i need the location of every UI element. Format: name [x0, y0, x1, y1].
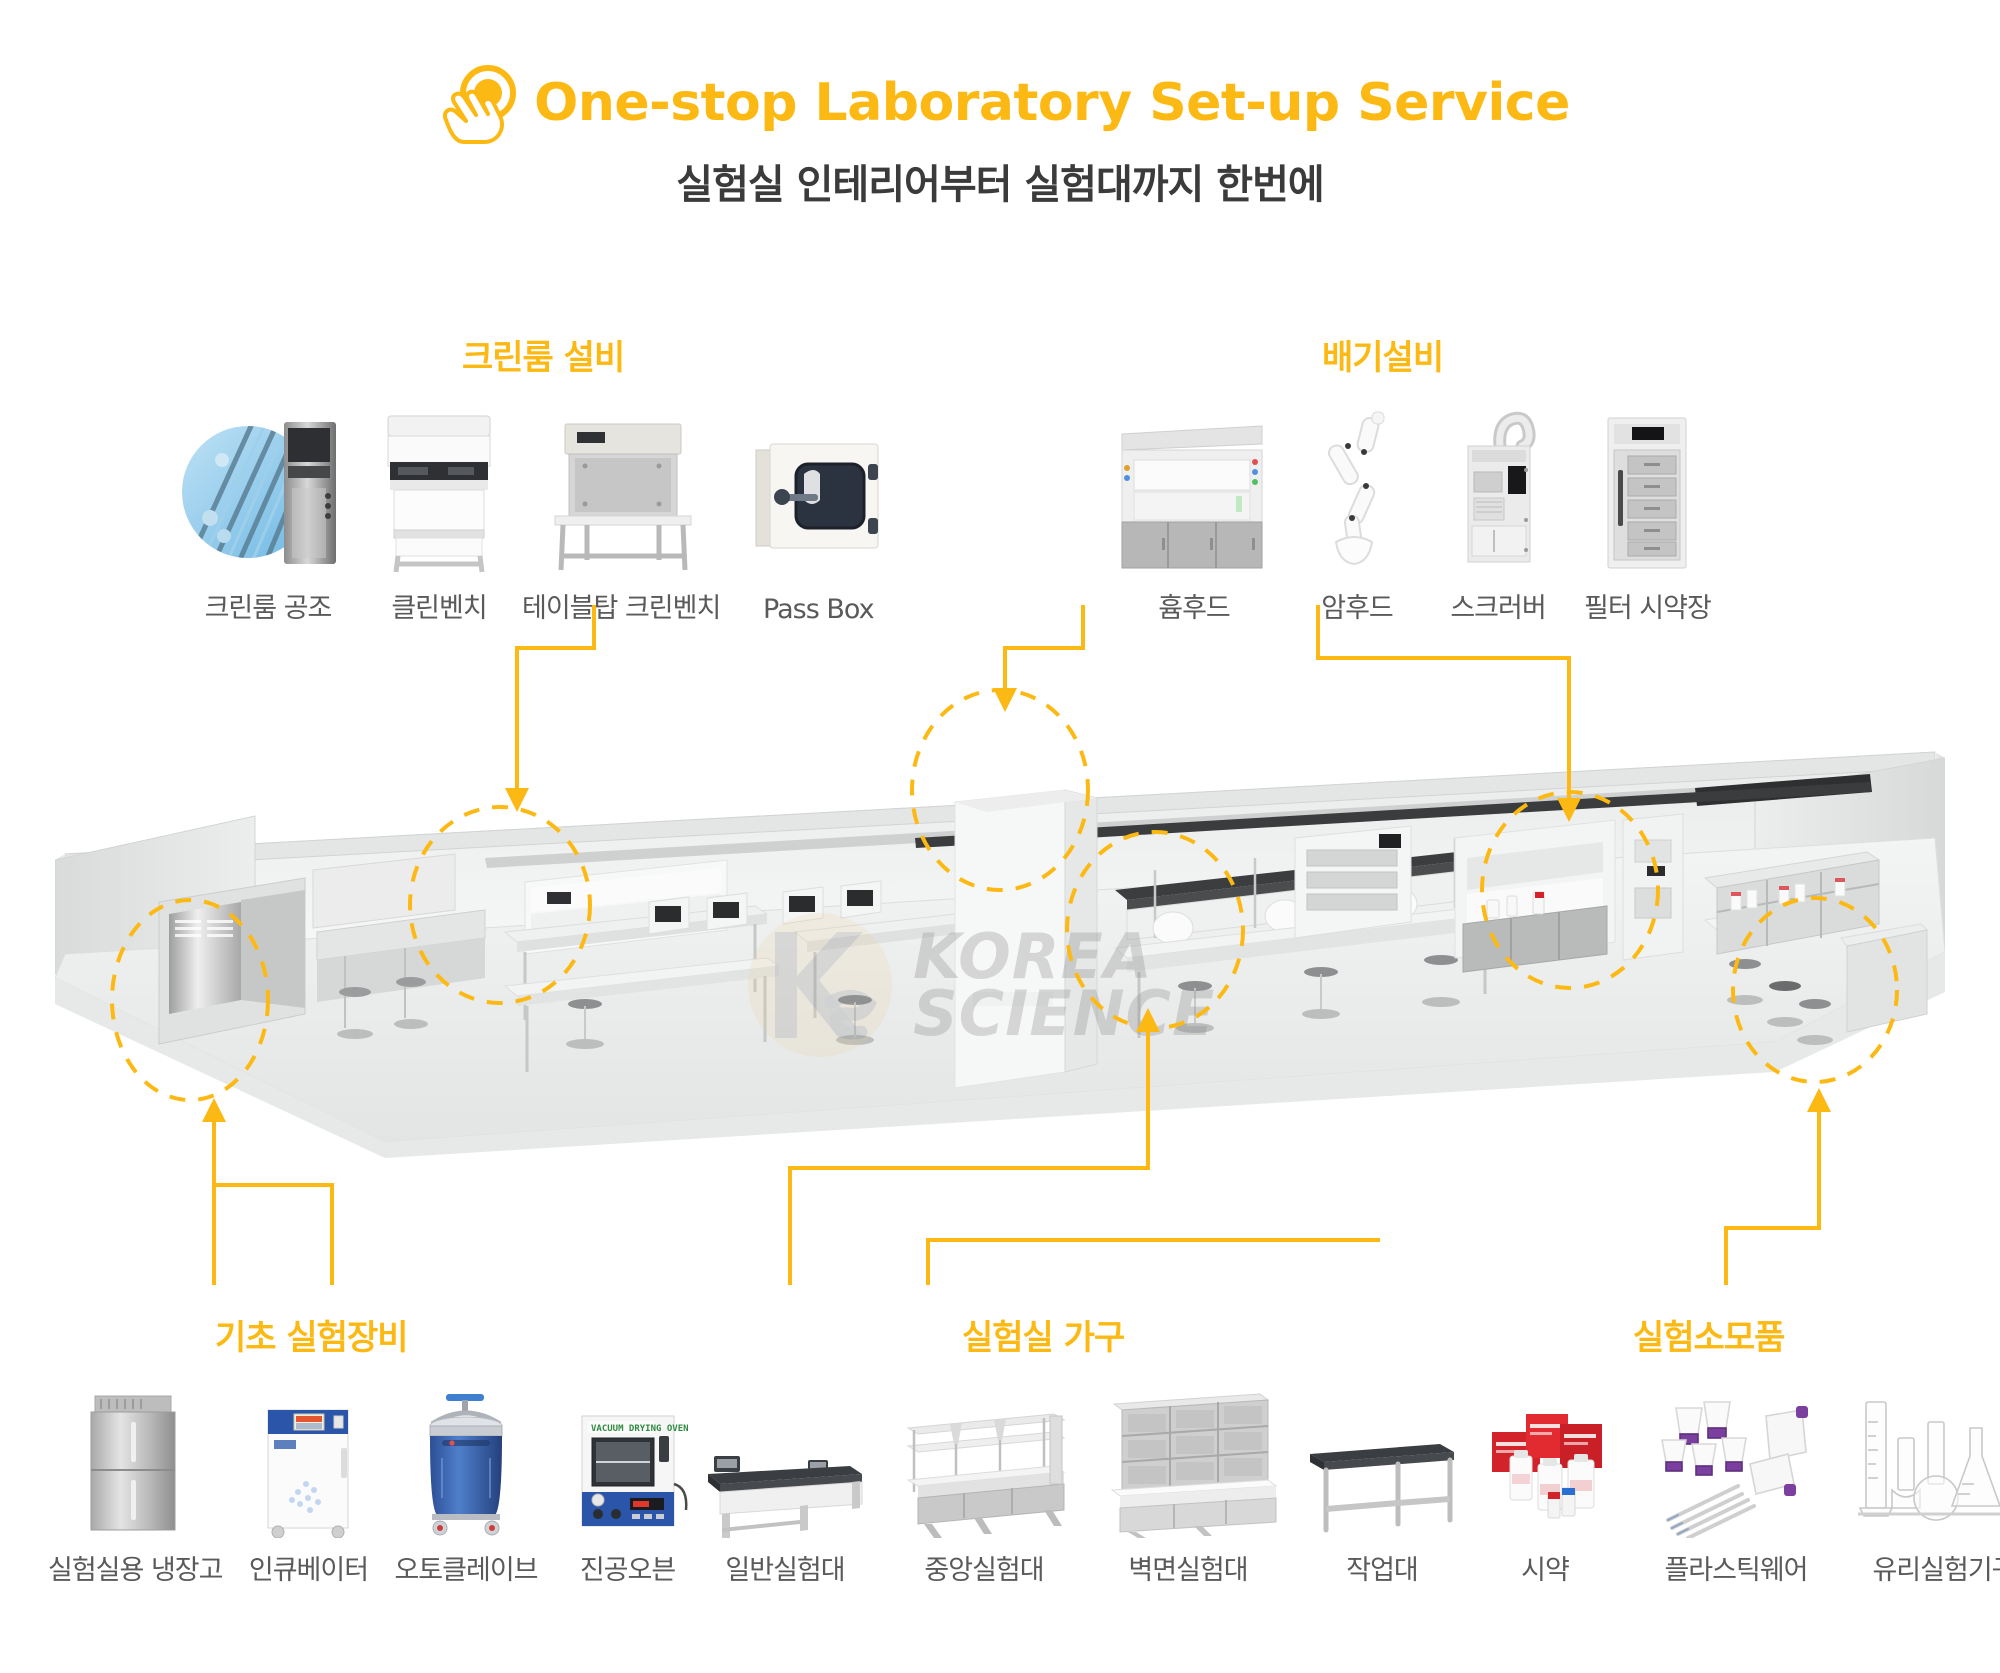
- item-label: 진공오븐: [580, 1548, 675, 1587]
- item-tabletop-clean-bench[interactable]: 테이블탑 크린벤치: [522, 400, 720, 625]
- item-standard-lab-bench[interactable]: 일반실험대: [700, 1388, 870, 1587]
- incubator-icon: [248, 1388, 368, 1538]
- item-label: 유리실험기구: [1872, 1548, 2000, 1587]
- arrowhead-pass-box: [993, 688, 1017, 712]
- ks-circle-logo: [745, 910, 895, 1060]
- item-label: 중앙실험대: [924, 1548, 1043, 1587]
- item-lab-refrigerator[interactable]: 실험실용 냉장고: [48, 1388, 222, 1587]
- thumb-wall-lab-bench: [1098, 1388, 1278, 1538]
- filtered-reagent-cabinet-icon: [1588, 400, 1706, 576]
- item-vacuum-oven[interactable]: VACUUM DRYING OVEN 진공오븐: [564, 1388, 692, 1587]
- work-table-icon: [1302, 1388, 1462, 1538]
- item-label: 인큐베이터: [249, 1548, 368, 1587]
- item-label: 시약: [1521, 1548, 1569, 1587]
- item-plasticware[interactable]: 플라스틱웨어: [1646, 1388, 1826, 1587]
- item-island-lab-bench[interactable]: 중앙실험대: [894, 1388, 1074, 1587]
- item-label: 실험실용 냉장고: [48, 1548, 222, 1587]
- thumb-autoclave: [402, 1388, 530, 1538]
- pass-box-icon: [738, 408, 898, 584]
- page-title: One-stop Laboratory Set-up Service: [534, 73, 1570, 133]
- item-pass-box[interactable]: Pass Box: [738, 408, 898, 625]
- item-wall-lab-bench[interactable]: 벽면실험대: [1098, 1388, 1278, 1587]
- page-subtitle: 실험실 인테리어부터 실험대까지 한번에: [666, 152, 1333, 212]
- thumb-filtered-reagent-cabinet: [1588, 400, 1706, 576]
- arm-hood-icon: [1302, 400, 1412, 576]
- standard-lab-bench-icon: [700, 1388, 870, 1538]
- fume-hood-icon: [1112, 400, 1276, 576]
- reagent-kits-icon: [1470, 1388, 1620, 1538]
- section-heading-cleanroom: 크린룸 설비: [462, 330, 624, 379]
- cleanroom-ahu-icon: [180, 400, 356, 576]
- item-label: 오토클레이브: [394, 1548, 537, 1587]
- poster-root: One-stop Laboratory Set-up Service 실험실 인…: [0, 0, 2000, 1673]
- glassware-icon: [1852, 1388, 2000, 1538]
- item-fume-hood[interactable]: 흄후드: [1112, 400, 1276, 625]
- connector-furniture-rail: [928, 1240, 1380, 1285]
- item-clean-bench[interactable]: 클린벤치: [374, 400, 504, 625]
- item-label: 암후드: [1321, 586, 1393, 625]
- connector-pass-box: [1005, 605, 1083, 700]
- section-heading-consumables: 실험소모품: [1633, 1310, 1784, 1359]
- item-group-furniture: 일반실험대: [700, 1388, 1462, 1587]
- page-subtitle-text: 실험실 인테리어부터 실험대까지 한번에: [676, 162, 1323, 208]
- autoclave-icon: [402, 1388, 530, 1538]
- item-scrubber[interactable]: 스크러버: [1438, 400, 1558, 625]
- thumb-clean-bench: [374, 400, 504, 576]
- connector-refrigerator-branch: [214, 1185, 332, 1285]
- item-work-table[interactable]: 작업대: [1302, 1388, 1462, 1587]
- thumb-lab-refrigerator: [71, 1388, 199, 1538]
- korea-science-watermark: KOREA SCIENCE: [745, 900, 1365, 1070]
- item-label: 일반실험대: [725, 1548, 844, 1587]
- section-heading-furniture: 실험실 가구: [962, 1310, 1124, 1359]
- item-label: 플라스틱웨어: [1664, 1548, 1807, 1587]
- scrubber-icon: [1438, 400, 1558, 576]
- subtitle-wrap: 실험실 인테리어부터 실험대까지 한번에: [0, 152, 2000, 212]
- thumb-tabletop-clean-bench: [541, 400, 701, 576]
- item-autoclave[interactable]: 오토클레이브: [394, 1388, 537, 1587]
- item-cleanroom-ahu[interactable]: 크린룸 공조: [180, 400, 356, 625]
- item-label: 크린룸 공조: [205, 586, 332, 625]
- item-label: 흄후드: [1158, 586, 1230, 625]
- section-heading-basic-equipment: 기초 실험장비: [215, 1310, 408, 1359]
- island-lab-bench-icon: [894, 1388, 1074, 1538]
- item-reagent-kits[interactable]: 시약: [1470, 1388, 1620, 1587]
- item-label: 스크러버: [1450, 586, 1545, 625]
- item-group-basic-equipment: 실험실용 냉장고: [48, 1388, 692, 1587]
- wall-lab-bench-icon: [1098, 1388, 1278, 1538]
- thumb-scrubber: [1438, 400, 1558, 576]
- vacuum-oven-icon: VACUUM DRYING OVEN: [564, 1388, 692, 1538]
- item-filtered-reagent-cabinet[interactable]: 필터 시약장: [1584, 400, 1711, 625]
- thumb-arm-hood: [1302, 400, 1412, 576]
- thumb-fume-hood: [1112, 400, 1276, 576]
- thumb-standard-lab-bench: [700, 1388, 870, 1538]
- thumb-work-table: [1302, 1388, 1462, 1538]
- thumb-island-lab-bench: [894, 1388, 1074, 1538]
- thumb-incubator: [248, 1388, 368, 1538]
- item-arm-hood[interactable]: 암후드: [1302, 400, 1412, 625]
- item-label: 벽면실험대: [1128, 1548, 1247, 1587]
- item-group-exhaust: 흄후드 암후드: [1112, 400, 1711, 625]
- thumb-glassware: [1852, 1388, 2000, 1538]
- item-group-cleanroom: 크린룸 공조: [180, 400, 898, 625]
- item-incubator[interactable]: 인큐베이터: [248, 1388, 368, 1587]
- thumb-reagent-kits: [1470, 1388, 1620, 1538]
- svg-text:VACUUM DRYING OVEN: VACUUM DRYING OVEN: [591, 1424, 689, 1434]
- thumb-vacuum-oven: VACUUM DRYING OVEN: [564, 1388, 692, 1538]
- tabletop-clean-bench-icon: [541, 400, 701, 576]
- item-label: 클린벤치: [391, 586, 486, 625]
- item-label: Pass Box: [763, 594, 874, 625]
- plasticware-icon: [1646, 1388, 1826, 1538]
- clean-bench-icon: [374, 400, 504, 576]
- watermark-line-2: SCIENCE: [913, 985, 1215, 1042]
- item-label: 필터 시약장: [1584, 586, 1711, 625]
- thumb-plasticware: [1646, 1388, 1826, 1538]
- thumb-pass-box: [738, 408, 898, 584]
- title-row: One-stop Laboratory Set-up Service: [0, 62, 2000, 144]
- hand-click-icon: [430, 62, 518, 144]
- section-heading-exhaust: 배기설비: [1322, 330, 1443, 379]
- item-group-consumables: 시약: [1470, 1388, 2000, 1587]
- item-glassware[interactable]: 유리실험기구: [1852, 1388, 2000, 1587]
- thumb-cleanroom-ahu: [180, 400, 356, 576]
- item-label: 테이블탑 크린벤치: [522, 586, 720, 625]
- item-label: 작업대: [1346, 1548, 1418, 1587]
- lab-refrigerator-icon: [71, 1388, 199, 1538]
- watermark-text: KOREA SCIENCE: [913, 928, 1215, 1042]
